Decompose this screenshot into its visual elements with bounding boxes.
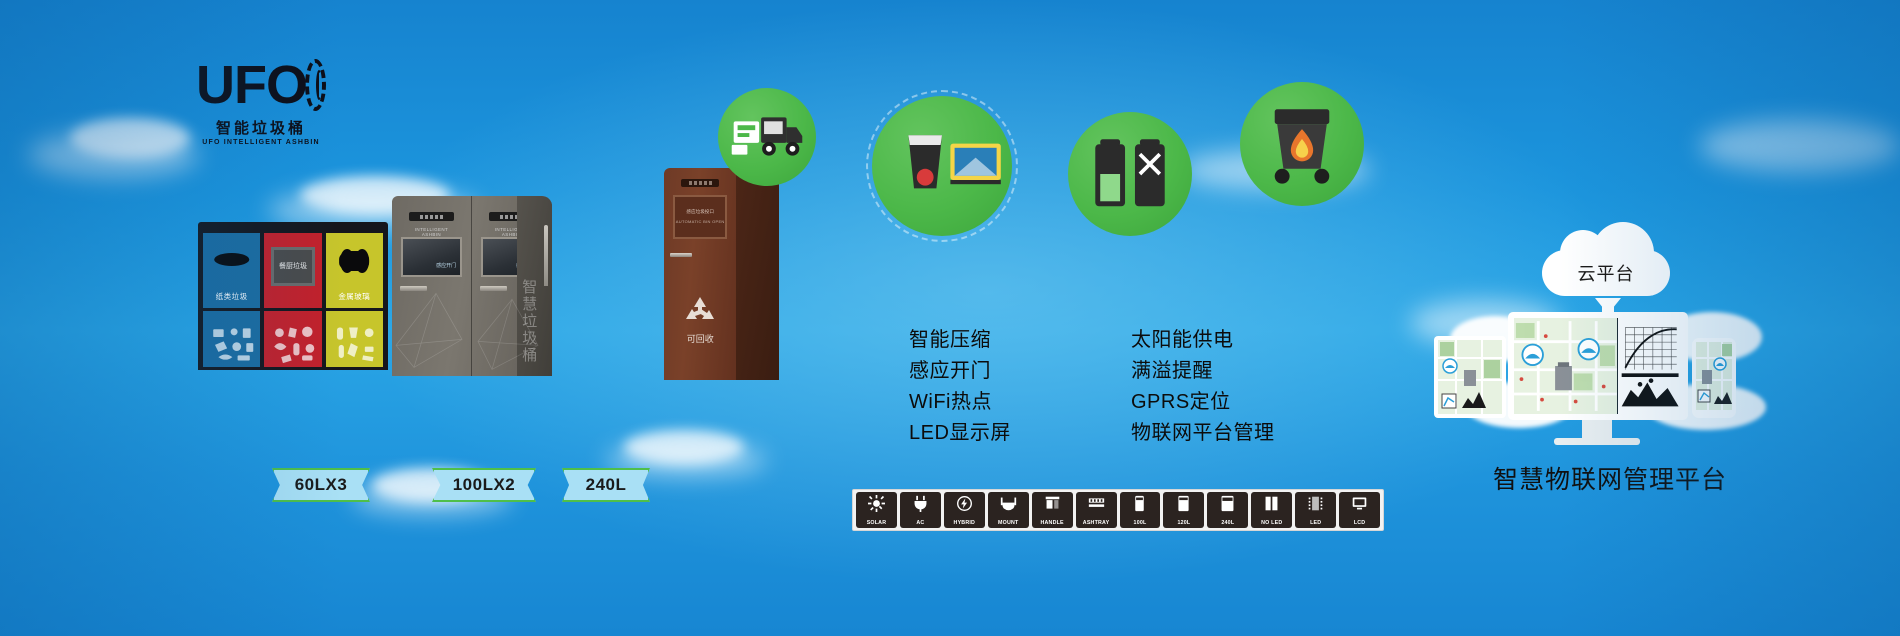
- feature-label: 感应开门: [909, 354, 991, 383]
- option-caption: AC: [900, 520, 941, 526]
- option-hybrid: HYBRID: [944, 492, 985, 528]
- feature-item: GPRS定位: [1100, 384, 1275, 415]
- monitor-icon: [1100, 423, 1119, 438]
- monitor-icon: [878, 392, 897, 407]
- bin-60-blue-label: 纸类垃圾: [203, 291, 260, 302]
- cloud-decoration: [28, 132, 198, 178]
- feature-column-right: 太阳能供电 满溢提醒 GPRS定位 物联网平台管理: [1100, 322, 1275, 446]
- logo-ring-icon: [305, 59, 326, 111]
- option-caption: HYBRID: [944, 520, 985, 526]
- bin-240-window: 感应垃圾投口 AUTOMATIC BIN OPEN: [673, 195, 727, 240]
- bin-60-cell-red: 餐厨垃圾: [264, 233, 321, 367]
- feature-item: LED显示屏: [878, 415, 1011, 446]
- oval-slot-icon: [214, 253, 250, 266]
- bin-60-yellow-label: 金属玻璃: [326, 291, 383, 302]
- option-caption: HANDLE: [1032, 520, 1073, 526]
- option-caption: SOLAR: [856, 520, 897, 526]
- feature-circle-solar-power: [872, 96, 1012, 236]
- bin-100-left-led-sub: INTELLIGENT ASHBIN: [406, 227, 457, 237]
- ashtray-icon: [1088, 495, 1105, 512]
- cloud-slot-icon: [339, 251, 369, 271]
- tablet-screen: [1438, 340, 1502, 414]
- chart-panel: [1617, 318, 1682, 414]
- map-panel: [1514, 318, 1617, 414]
- phone-screen: [1696, 342, 1732, 410]
- bin-60-body: 纸类垃圾: [198, 233, 388, 370]
- city-map-graphic: [1514, 318, 1617, 414]
- feature-label: 智能压缩: [909, 323, 991, 352]
- bin-100-left-window-label: 感应开门: [436, 262, 456, 269]
- bin-240-recycle-mark: 可回收: [664, 295, 736, 345]
- platform-title: 智慧物联网管理平台: [1430, 460, 1790, 496]
- monitor-screen: [1514, 318, 1682, 414]
- option-ac: AC: [900, 492, 941, 528]
- feature-circle-overflow-alert: [1068, 112, 1192, 236]
- monitor-neck: [1582, 420, 1612, 440]
- option-100l: 100L: [1120, 492, 1161, 528]
- tablet-device: [1434, 336, 1506, 418]
- option-caption: 100L: [1120, 520, 1161, 526]
- option-240l: 240L: [1207, 492, 1248, 528]
- option-mount: MOUNT: [988, 492, 1029, 528]
- feature-circle-fire-alarm: [1240, 82, 1364, 206]
- logo-chinese-name: 智能垃圾桶: [196, 117, 326, 138]
- bin-120l-icon: [1175, 495, 1192, 512]
- bin-240-window-line1: 感应垃圾投口: [675, 209, 725, 215]
- option-caption: LED: [1295, 520, 1336, 526]
- product-bin-60lx3: 纸类垃圾: [198, 222, 388, 370]
- hybrid-bolt-icon: [956, 495, 973, 512]
- option-ashtray: ASHTRAY: [1076, 492, 1117, 528]
- bin-60-blue-upper: 纸类垃圾: [203, 233, 260, 308]
- bin-240-handle: [670, 253, 692, 257]
- option-caption: MOUNT: [988, 520, 1029, 526]
- option-120l: 120L: [1163, 492, 1204, 528]
- led-icon: [1307, 495, 1324, 512]
- sun-icon: [868, 495, 885, 512]
- feature-item: 满溢提醒: [1100, 353, 1275, 384]
- feature-column-left: 智能压缩 感应开门 WiFi热点 LED显示屏: [878, 322, 1011, 446]
- bin-240-recycle-label: 可回收: [664, 332, 736, 345]
- compaction-truck-icon: [718, 88, 816, 186]
- analytics-chart-graphic: [1618, 318, 1682, 414]
- bin-240l-icon: [1219, 495, 1236, 512]
- option-handle: HANDLE: [1032, 492, 1073, 528]
- monitor-icon: [878, 330, 897, 345]
- option-lcd: LCD: [1339, 492, 1380, 528]
- bin-60-top-cap: [198, 222, 388, 233]
- feature-label: LED显示屏: [909, 416, 1011, 445]
- option-led: LED: [1295, 492, 1336, 528]
- monitor-icon: [1100, 392, 1119, 407]
- product-bin-240l: 感应垃圾投口 AUTOMATIC BIN OPEN 可回收: [664, 168, 779, 380]
- feature-item: 太阳能供电: [1100, 322, 1275, 353]
- bin-60-red-lower: [264, 308, 321, 367]
- bin-60-cell-yellow: 金属玻璃: [326, 233, 383, 367]
- option-solar: SOLAR: [856, 492, 897, 528]
- capacity-banner-100lx2: 100LX2: [432, 468, 536, 502]
- bin-100l-icon: [1131, 495, 1148, 512]
- two-bins-fill-icon: [1068, 112, 1192, 236]
- capacity-banner-240l: 240L: [562, 468, 650, 502]
- logo-wordmark-row: UFO: [196, 56, 326, 114]
- logo-wordmark: UFO: [196, 58, 307, 112]
- monitor-base: [1554, 438, 1640, 445]
- feature-item: 智能压缩: [878, 322, 1011, 353]
- monitor-icon: [1100, 330, 1119, 345]
- bin-60-yellow-lower: [326, 308, 383, 367]
- fire-bin-icon: [1240, 82, 1364, 206]
- feature-item: WiFi热点: [878, 384, 1011, 415]
- feature-label: 满溢提醒: [1131, 354, 1213, 383]
- solar-panel-bin-icon: [872, 96, 1012, 236]
- bin-100-left-window: 感应开门: [401, 237, 461, 277]
- monitor-icon: [878, 361, 897, 376]
- option-caption: ASHTRAY: [1076, 520, 1117, 526]
- bin-240-body: 感应垃圾投口 AUTOMATIC BIN OPEN 可回收: [664, 168, 779, 380]
- led-display-icon: [681, 179, 719, 187]
- handle-icon: [1044, 495, 1061, 512]
- capacity-banner-60lx3: 60LX3: [272, 468, 370, 502]
- wall-mount-icon: [1000, 495, 1017, 512]
- option-caption: 120L: [1163, 520, 1204, 526]
- no-led-icon: [1263, 495, 1280, 512]
- monitor-icon: [1100, 361, 1119, 376]
- display-plate-icon: 餐厨垃圾: [271, 247, 315, 286]
- feature-item: 物联网平台管理: [1100, 415, 1275, 446]
- cloud-platform-bubble: 云平台: [1542, 250, 1670, 296]
- bin-60-cell-blue: 纸类垃圾: [203, 233, 260, 367]
- bin-240-window-line2: AUTOMATIC BIN OPEN: [675, 219, 725, 224]
- option-caption: 240L: [1207, 520, 1248, 526]
- phone-map-chart-graphic: [1696, 342, 1732, 410]
- paper-waste-illustration: [208, 324, 260, 363]
- cloud-platform-label: 云平台: [1578, 260, 1635, 286]
- feature-item: 感应开门: [878, 353, 1011, 384]
- bin-240-front-panel: 感应垃圾投口 AUTOMATIC BIN OPEN 可回收: [664, 168, 736, 380]
- feature-label: GPRS定位: [1131, 385, 1231, 414]
- cloud-decoration: [1700, 120, 1900, 172]
- lcd-icon: [1351, 495, 1368, 512]
- feature-label: 物联网平台管理: [1131, 416, 1275, 445]
- feature-label: 太阳能供电: [1131, 323, 1234, 352]
- kitchen-waste-illustration: [269, 324, 321, 363]
- logo-english-name: UFO INTELLIGENT ASHBIN: [196, 139, 326, 146]
- brand-logo: UFO 智能垃圾桶 UFO INTELLIGENT ASHBIN: [196, 56, 326, 148]
- tablet-map-chart-graphic: [1438, 340, 1502, 414]
- recycle-icon: [683, 295, 717, 325]
- bin-60-yellow-upper: 金属玻璃: [326, 233, 383, 308]
- product-bin-100lx2: INTELLIGENT ASHBIN 感应开门 INTELLIGENT ASHB…: [392, 196, 552, 376]
- banner-stage: UFO 智能垃圾桶 UFO INTELLIGENT ASHBIN 纸类垃圾: [0, 0, 1900, 636]
- feature-label: WiFi热点: [909, 385, 992, 414]
- iot-platform-illustration: 云平台: [1430, 250, 1790, 490]
- plug-icon: [912, 495, 929, 512]
- metal-glass-waste-illustration: [330, 324, 382, 363]
- led-display-icon: [409, 212, 453, 221]
- phone-device: [1692, 338, 1736, 418]
- bin-60-red-label: 餐厨垃圾: [274, 250, 312, 270]
- bin-60-red-upper: 餐厨垃圾: [264, 233, 321, 308]
- bin-60-blue-lower: [203, 308, 260, 367]
- desktop-monitor: [1508, 312, 1688, 420]
- bin-100-body: INTELLIGENT ASHBIN 感应开门 INTELLIGENT ASHB…: [392, 196, 552, 376]
- option-icon-strip: SOLAR AC HYBRID MOUNT HANDLE: [852, 489, 1384, 531]
- option-no-led: NO LED: [1251, 492, 1292, 528]
- option-caption: LCD: [1339, 520, 1380, 526]
- bin-240-side-panel: [736, 168, 779, 380]
- monitor-icon: [878, 423, 897, 438]
- polygon-graphic-decoration: [392, 275, 552, 376]
- option-caption: NO LED: [1251, 520, 1292, 526]
- feature-circle-smart-compaction: [718, 88, 816, 186]
